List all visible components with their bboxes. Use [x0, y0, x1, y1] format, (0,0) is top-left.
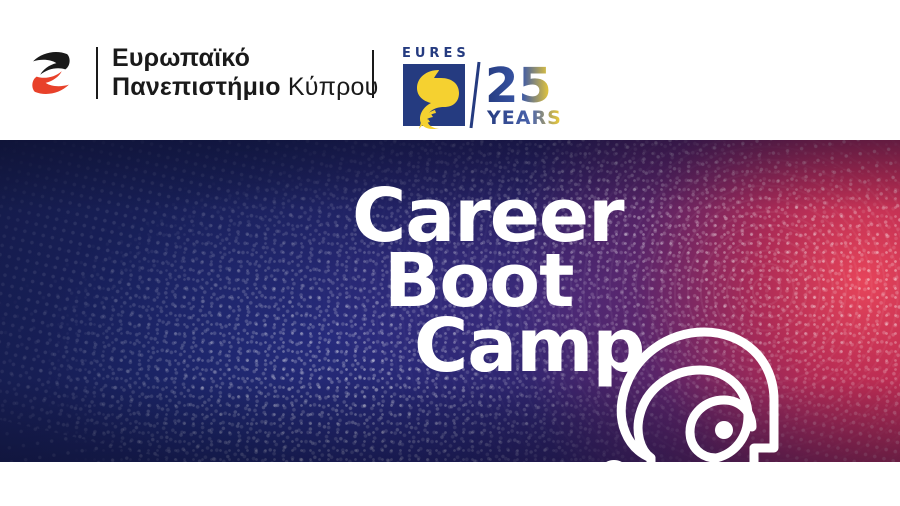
university-name-line2: Πανεπιστήμιο Κύπρου — [112, 73, 378, 102]
anniversary-number: 25 — [485, 58, 552, 114]
svg-text:EURES: EURES — [402, 46, 470, 61]
eures-wordmark-text: EURES — [402, 46, 470, 61]
career-boot-camp-banner: Career Boot Camp 2o2o — [0, 140, 900, 462]
university-logo-lockup[interactable]: Ευρωπαϊκό Πανεπιστήμιο Κύπρου — [24, 44, 378, 102]
university-name: Ευρωπαϊκό Πανεπιστήμιο Κύπρου — [112, 44, 378, 102]
anniversary-label: YEARS — [486, 107, 560, 129]
eures-anniversary-logo[interactable]: EURES — [395, 40, 560, 135]
page-root: Ευρωπαϊκό Πανεπιστήμιο Κύπρου EURES — [0, 0, 900, 506]
university-name-line2-bold: Πανεπιστήμιο — [112, 73, 281, 101]
logo-divider — [96, 47, 98, 99]
university-name-line2-light: Κύπρου — [288, 73, 379, 101]
header-section-divider — [372, 50, 374, 98]
eures-slash-divider — [471, 62, 479, 128]
university-name-line1: Ευρωπαϊκό — [112, 44, 378, 73]
site-header: Ευρωπαϊκό Πανεπιστήμιο Κύπρου EURES — [0, 0, 900, 140]
banner-title: Career Boot Camp — [352, 184, 644, 379]
banner-title-line-3: Camp — [414, 314, 644, 379]
euc-swoosh-logo-icon — [24, 47, 78, 99]
